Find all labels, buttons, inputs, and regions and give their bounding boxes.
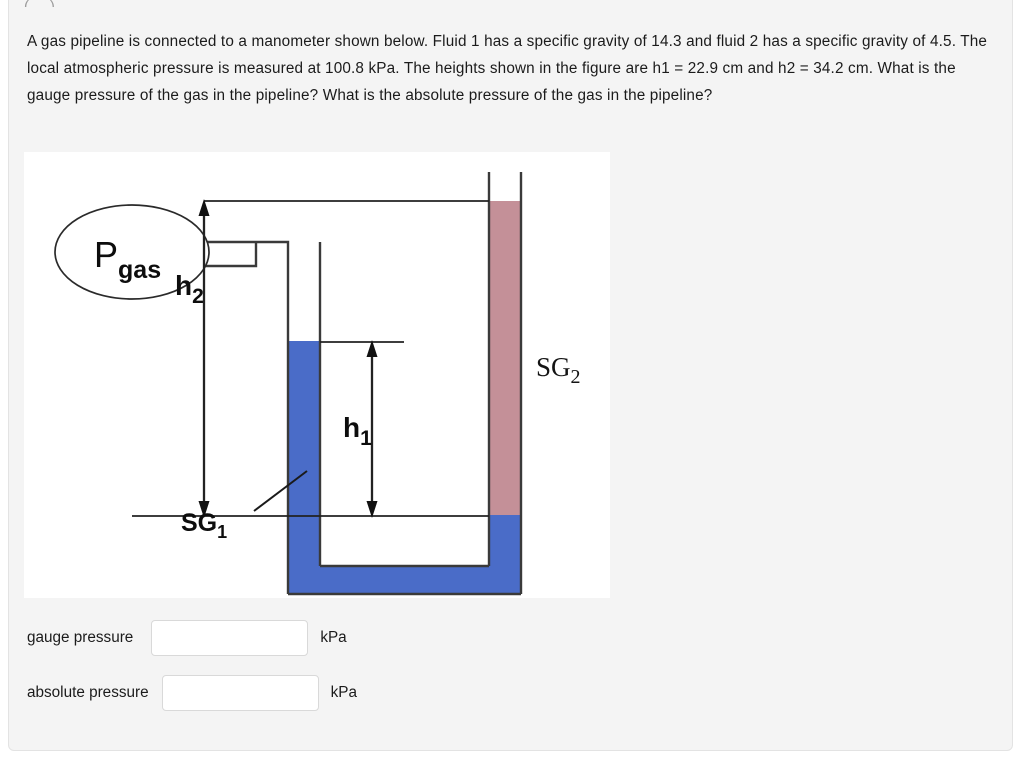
h1-label: h1 <box>343 412 372 450</box>
gauge-pressure-input[interactable] <box>151 620 308 656</box>
h2-label-main: h <box>175 270 192 301</box>
gauge-pressure-row: gauge pressure kPa <box>27 620 347 656</box>
absolute-pressure-input[interactable] <box>162 675 319 711</box>
tube-outline <box>288 172 521 594</box>
gauge-pressure-unit: kPa <box>320 629 346 647</box>
sg2-label-main: SG <box>536 352 571 382</box>
manometer-diagram-svg: Pgas h2 h1 <box>24 152 610 598</box>
fluid2-pink-region <box>489 201 521 515</box>
h2-label-sub: 2 <box>192 285 204 308</box>
gas-label-sub: gas <box>118 256 161 284</box>
sg2-label-sub: 2 <box>571 366 581 388</box>
manometer-figure: Pgas h2 h1 <box>24 152 610 598</box>
clipped-top-text: ( ... ) <box>24 0 55 7</box>
absolute-pressure-row: absolute pressure kPa <box>27 675 357 711</box>
sg2-label: SG2 <box>536 352 581 388</box>
absolute-pressure-unit: kPa <box>331 684 357 702</box>
gas-label-main: P <box>94 234 118 275</box>
fluid1-blue-region <box>288 341 521 594</box>
gauge-pressure-label: gauge pressure <box>27 629 133 647</box>
h1-label-sub: 1 <box>360 427 372 450</box>
sg1-label-sub: 1 <box>217 522 227 542</box>
sg1-label-main: SG <box>181 509 217 537</box>
absolute-pressure-label: absolute pressure <box>27 684 149 702</box>
h1-label-main: h <box>343 412 360 443</box>
sg1-label: SG1 <box>181 509 227 542</box>
question-prompt-text: A gas pipeline is connected to a manomet… <box>27 28 995 109</box>
